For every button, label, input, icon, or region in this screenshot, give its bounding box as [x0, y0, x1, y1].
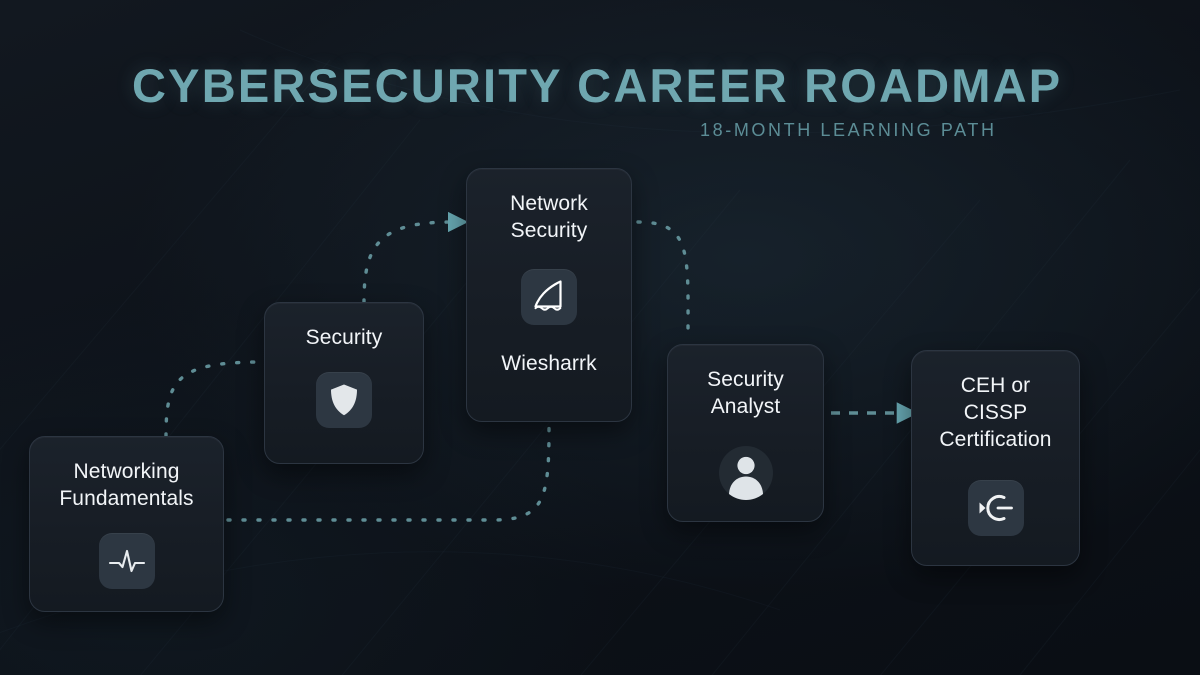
- node-networking-fundamentals[interactable]: Networking Fundamentals: [29, 436, 224, 612]
- node-security[interactable]: Security: [264, 302, 424, 464]
- shield-icon: [316, 372, 372, 428]
- edge-networking-to-security: [166, 362, 262, 436]
- roadmap-canvas: CYBERSECURITY CAREER ROADMAP 18-MONTH LE…: [0, 0, 1200, 675]
- user-person-icon: [714, 441, 778, 505]
- activity-pulse-icon: [99, 533, 155, 589]
- node-label: Network Security: [502, 191, 596, 245]
- node-network-security[interactable]: Network Security Wiesharrk: [466, 168, 632, 422]
- shark-fin-icon: [521, 269, 577, 325]
- edge-security-to-network-security: [364, 222, 452, 302]
- node-ceh-cissp-certification[interactable]: CEH or CISSP Certification: [911, 350, 1080, 566]
- node-label: CEH or CISSP Certification: [931, 373, 1059, 454]
- node-sublabel: Wiesharrk: [501, 351, 596, 378]
- edge-network-security-to-analyst: [638, 222, 688, 338]
- node-label: Networking Fundamentals: [51, 459, 201, 513]
- node-label: Security: [298, 325, 391, 352]
- node-security-analyst[interactable]: Security Analyst: [667, 344, 824, 522]
- node-label: Security Analyst: [699, 367, 792, 421]
- certification-badge-icon: [968, 480, 1024, 536]
